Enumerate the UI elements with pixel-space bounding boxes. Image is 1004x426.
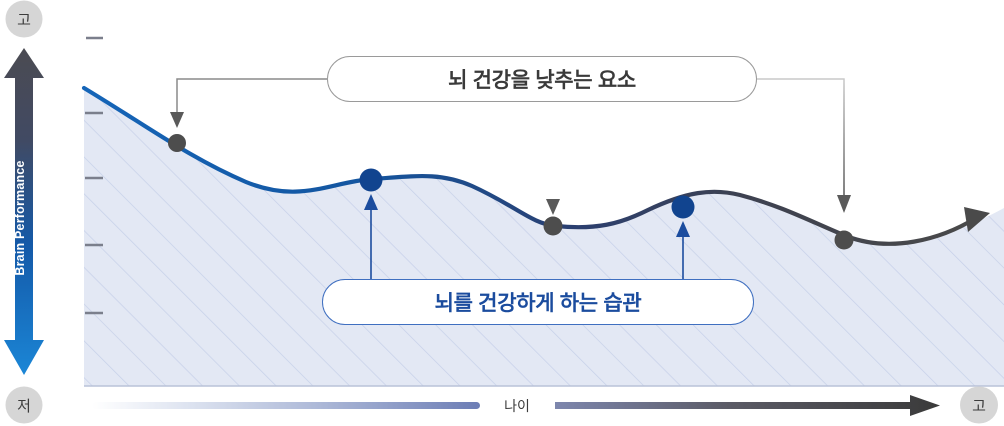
marker-negative-2[interactable] — [544, 217, 563, 236]
connector-negative-left — [177, 79, 327, 113]
connector-negative-right — [757, 79, 844, 196]
callout-negative-factors-label: 뇌 건강을 낮추는 요소 — [448, 64, 636, 94]
marker-positive-1[interactable] — [360, 169, 383, 192]
performance-area-fill — [84, 88, 1004, 386]
x-axis-end-cap: 고 — [960, 387, 998, 424]
x-axis-right-arrow — [555, 395, 940, 416]
y-axis-label-group: Brain Performance — [13, 160, 27, 275]
marker-positive-2[interactable] — [672, 196, 695, 219]
callout-negative-factors[interactable]: 뇌 건강을 낮추는 요소 — [327, 56, 757, 102]
y-axis-label: Brain Performance — [13, 160, 27, 275]
marker-negative-3[interactable] — [835, 231, 854, 250]
y-axis-high-cap: 고 — [6, 1, 43, 38]
x-axis-left-bar — [92, 402, 480, 409]
y-axis-high-cap-label: 고 — [17, 12, 31, 29]
callout-positive-habits-label: 뇌를 건강하게 하는 습관 — [435, 287, 642, 317]
marker-negative-1[interactable] — [168, 134, 186, 152]
x-axis-label: 나이 — [504, 398, 530, 414]
brain-performance-diagram: Brain Performance 고 저 나이 고 뇌 건강을 낮추는 요소 … — [0, 0, 1004, 426]
callout-positive-habits[interactable]: 뇌를 건강하게 하는 습관 — [322, 279, 754, 325]
y-axis-low-cap-label: 저 — [17, 398, 31, 415]
x-axis-end-cap-label: 고 — [972, 398, 986, 415]
y-axis-low-cap: 저 — [6, 387, 43, 424]
